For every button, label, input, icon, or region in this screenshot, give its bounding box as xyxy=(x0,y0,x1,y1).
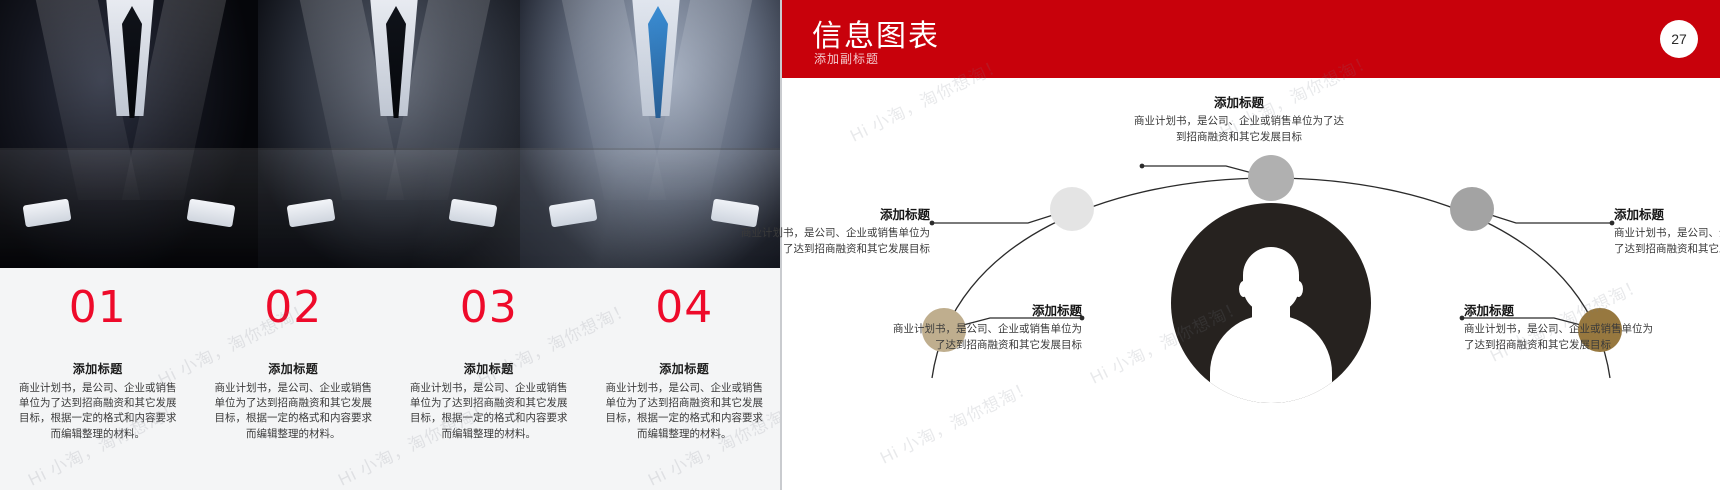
card-body: 商业计划书，是公司、企业或销售单位为了达到招商融资和其它发展目标，根据一定的格式… xyxy=(593,381,777,442)
callout-body: 商业计划书，是公司、企业或销售单位为了达到招商融资和其它发展目标 xyxy=(886,322,1082,354)
shirt-cuff-right xyxy=(187,199,236,228)
suit-figure-2 xyxy=(258,0,526,268)
card-title: 添加标题 xyxy=(397,360,581,377)
node-dot-right-upper[interactable] xyxy=(1450,187,1494,231)
page-subtitle: 添加副标题 xyxy=(814,50,879,67)
radial-infographic: 添加标题 商业计划书，是公司、企业或销售单位为了达到招商融资和其它发展目标 添加… xyxy=(782,78,1720,490)
person-ear-left-icon xyxy=(1239,281,1248,297)
slide-header: 信息图表 添加副标题 27 xyxy=(782,0,1720,78)
callout-title: 添加标题 xyxy=(1134,92,1344,111)
callout-body: 商业计划书，是公司、企业或销售单位为了达到招商融资和其它发展目标 xyxy=(1464,322,1660,354)
shirt-cuff-right xyxy=(449,199,498,228)
callout-title: 添加标题 xyxy=(1614,204,1720,223)
callout-top[interactable]: 添加标题 商业计划书，是公司、企业或销售单位为了达到招商融资和其它发展目标 xyxy=(1134,92,1344,146)
crossed-arms xyxy=(258,148,526,268)
callout-title: 添加标题 xyxy=(734,204,930,223)
card-number: 04 xyxy=(593,286,777,330)
callout-left-upper[interactable]: 添加标题 商业计划书，是公司、企业或销售单位为了达到招商融资和其它发展目标 xyxy=(734,204,930,258)
card-title: 添加标题 xyxy=(6,360,190,377)
node-dot-left-upper[interactable] xyxy=(1050,187,1094,231)
card-number: 02 xyxy=(202,286,386,330)
card-title: 添加标题 xyxy=(593,360,777,377)
card-body: 商业计划书，是公司、企业或销售单位为了达到招商融资和其它发展目标，根据一定的格式… xyxy=(397,381,581,442)
businessmen-photo xyxy=(0,0,782,268)
card-body: 商业计划书，是公司、企业或销售单位为了达到招商融资和其它发展目标，根据一定的格式… xyxy=(202,381,386,442)
numbered-card[interactable]: 03 添加标题 商业计划书，是公司、企业或销售单位为了达到招商融资和其它发展目标… xyxy=(391,268,587,490)
page-title: 信息图表 xyxy=(812,11,940,55)
person-body-icon xyxy=(1210,315,1332,403)
callout-left-lower[interactable]: 添加标题 商业计划书，是公司、企业或销售单位为了达到招商融资和其它发展目标 xyxy=(886,300,1082,354)
callout-right-lower[interactable]: 添加标题 商业计划书，是公司、企业或销售单位为了达到招商融资和其它发展目标 xyxy=(1464,300,1660,354)
numbered-card[interactable]: 02 添加标题 商业计划书，是公司、企业或销售单位为了达到招商融资和其它发展目标… xyxy=(196,268,392,490)
numbered-cards-row: 01 添加标题 商业计划书，是公司、企业或销售单位为了达到招商融资和其它发展目标… xyxy=(0,268,782,490)
numbered-card[interactable]: 04 添加标题 商业计划书，是公司、企业或销售单位为了达到招商融资和其它发展目标… xyxy=(587,268,783,490)
callout-right-upper[interactable]: 添加标题 商业计划书，是公司、企业或销售单位为了达到招商融资和其它发展目标 xyxy=(1614,204,1720,258)
card-number: 01 xyxy=(6,286,190,330)
card-title: 添加标题 xyxy=(202,360,386,377)
shirt-cuff-left xyxy=(549,199,598,228)
right-slide: 信息图表 添加副标题 27 xyxy=(782,0,1720,490)
card-body: 商业计划书，是公司、企业或销售单位为了达到招商融资和其它发展目标，根据一定的格式… xyxy=(6,381,190,442)
person-ear-right-icon xyxy=(1294,281,1303,297)
center-avatar-circle[interactable] xyxy=(1171,203,1371,403)
shirt-cuff-left xyxy=(287,199,336,228)
numbered-card[interactable]: 01 添加标题 商业计划书，是公司、企业或销售单位为了达到招商融资和其它发展目标… xyxy=(0,268,196,490)
page-number-badge: 27 xyxy=(1660,20,1698,58)
callout-body: 商业计划书，是公司、企业或销售单位为了达到招商融资和其它发展目标 xyxy=(734,226,930,258)
callout-title: 添加标题 xyxy=(886,300,1082,319)
suit-figure-1 xyxy=(0,0,264,268)
callout-title: 添加标题 xyxy=(1464,300,1660,319)
slide-pair-canvas: 01 添加标题 商业计划书，是公司、企业或销售单位为了达到招商融资和其它发展目标… xyxy=(0,0,1720,490)
callout-body: 商业计划书，是公司、企业或销售单位为了达到招商融资和其它发展目标 xyxy=(1134,114,1344,146)
crossed-arms xyxy=(0,148,264,268)
shirt-cuff-left xyxy=(23,199,72,228)
card-number: 03 xyxy=(397,286,581,330)
left-slide: 01 添加标题 商业计划书，是公司、企业或销售单位为了达到招商融资和其它发展目标… xyxy=(0,0,782,490)
callout-body: 商业计划书，是公司、企业或销售单位为了达到招商融资和其它发展目标 xyxy=(1614,226,1720,258)
node-dot-top[interactable] xyxy=(1248,155,1294,201)
